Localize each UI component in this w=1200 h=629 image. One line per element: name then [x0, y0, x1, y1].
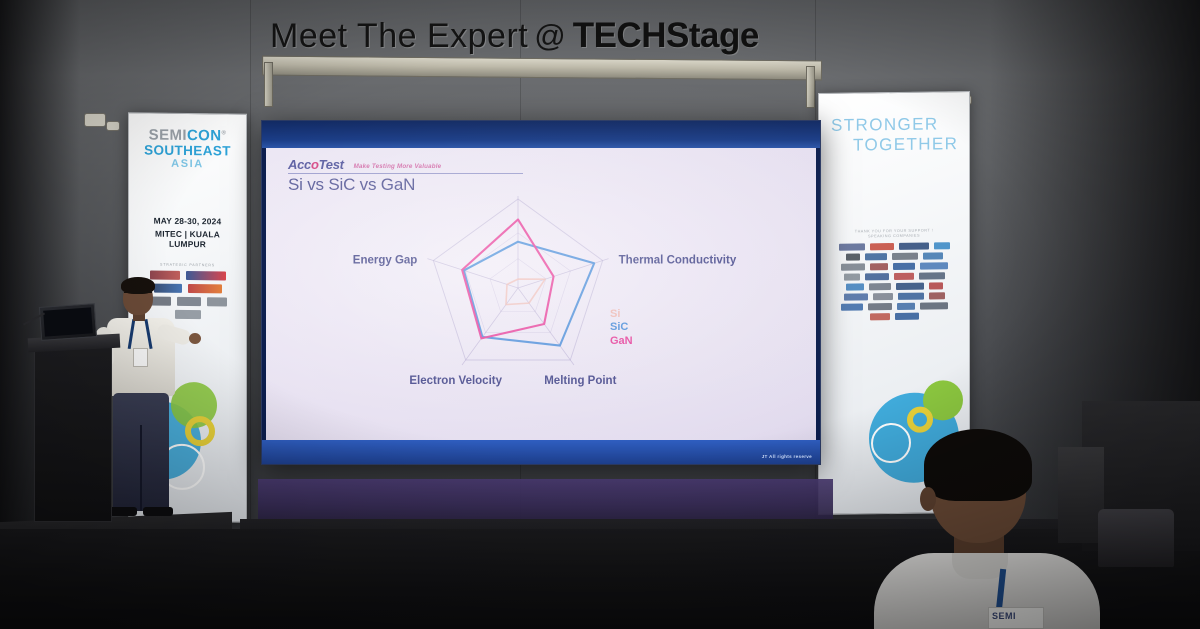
vignette-overlay	[0, 0, 1200, 629]
photo-scene: Meet The Expert @ TECHStage SEMICON® SOU…	[0, 0, 1200, 629]
